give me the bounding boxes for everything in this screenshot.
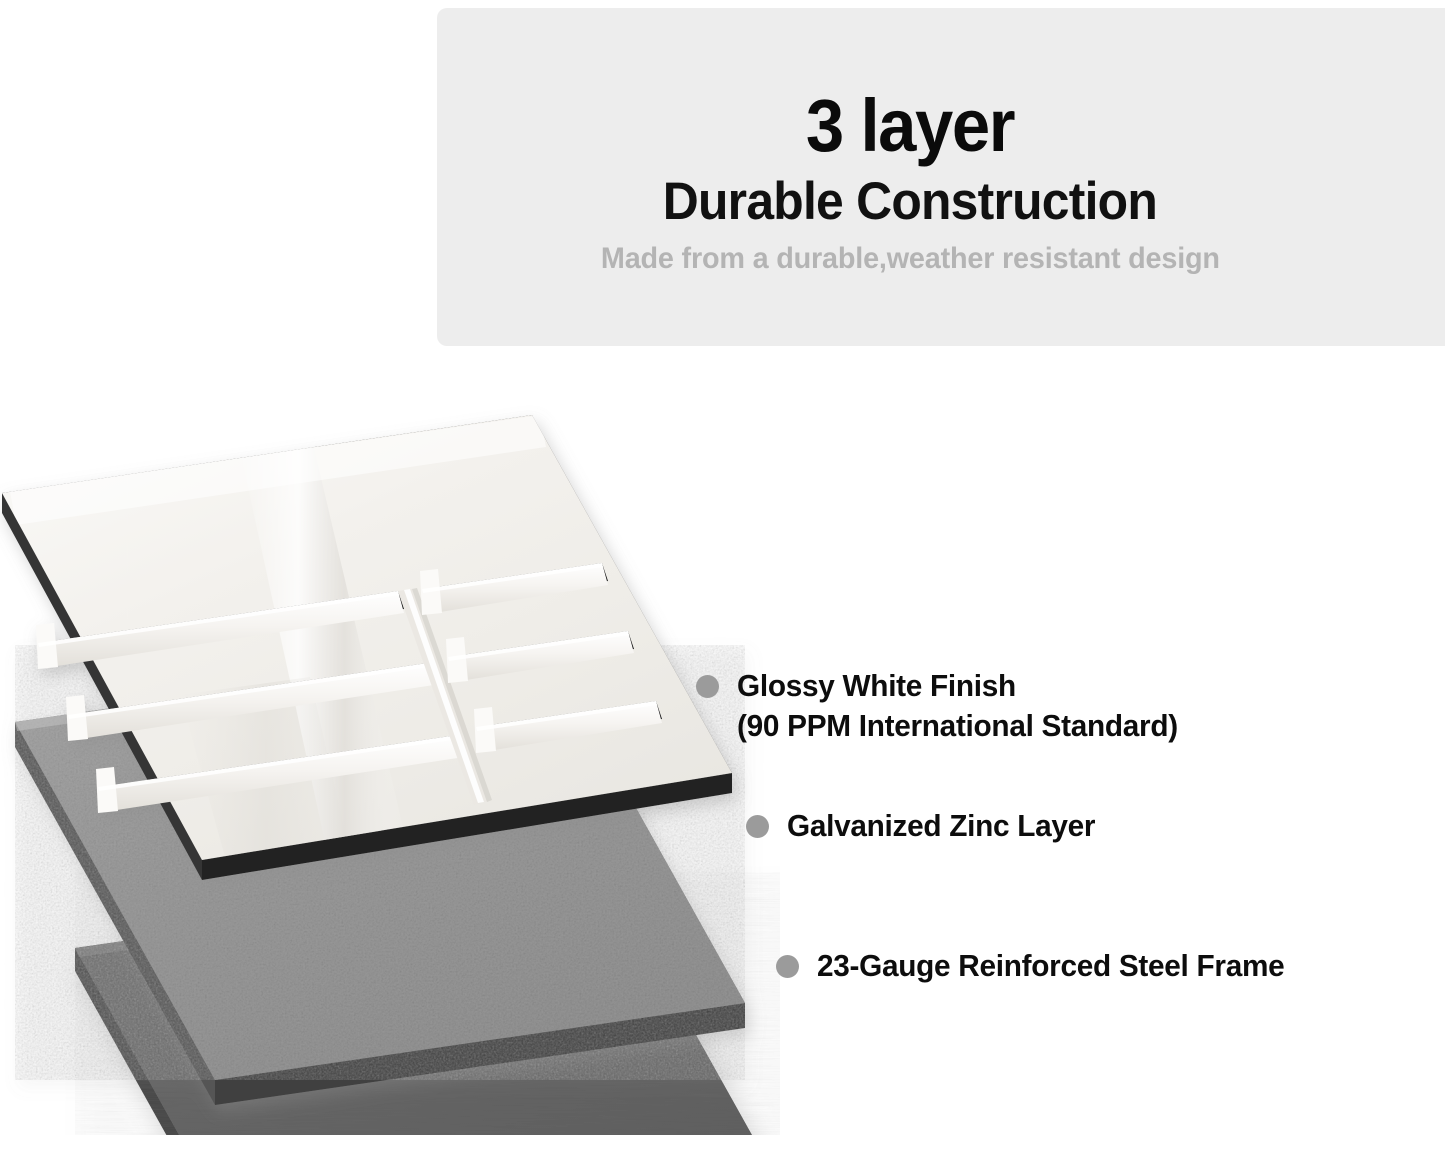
page-subtitle: Durable Construction (663, 175, 1157, 228)
bullet-dot-icon (746, 815, 769, 838)
feature-line: (90 PPM International Standard) (737, 708, 1178, 743)
header-text-block: 3 layer Durable Construction Made from a… (437, 8, 1383, 346)
feature-item-glossy-white-finish: Glossy White Finish (90 PPM Internationa… (696, 666, 1196, 747)
page-title: 3 layer (806, 89, 1014, 163)
header-panel: 3 layer Durable Construction Made from a… (437, 8, 1445, 346)
feature-item-reinforced-steel-frame: 23-Gauge Reinforced Steel Frame (776, 946, 1304, 986)
feature-label: Galvanized Zinc Layer (787, 806, 1095, 846)
feature-line: Glossy White Finish (737, 668, 1016, 703)
feature-line: Galvanized Zinc Layer (787, 808, 1095, 843)
feature-label: Glossy White Finish (90 PPM Internationa… (737, 666, 1178, 747)
feature-item-galvanized-zinc-layer: Galvanized Zinc Layer (746, 806, 1108, 846)
bullet-dot-icon (696, 675, 719, 698)
layer-stack-illustration (0, 395, 780, 1135)
bullet-dot-icon (776, 955, 799, 978)
layer-glossy-white-louver-panel (2, 415, 732, 880)
feature-label: 23-Gauge Reinforced Steel Frame (817, 946, 1284, 986)
feature-line: 23-Gauge Reinforced Steel Frame (817, 948, 1284, 983)
page-tagline: Made from a durable,weather resistant de… (601, 244, 1220, 274)
